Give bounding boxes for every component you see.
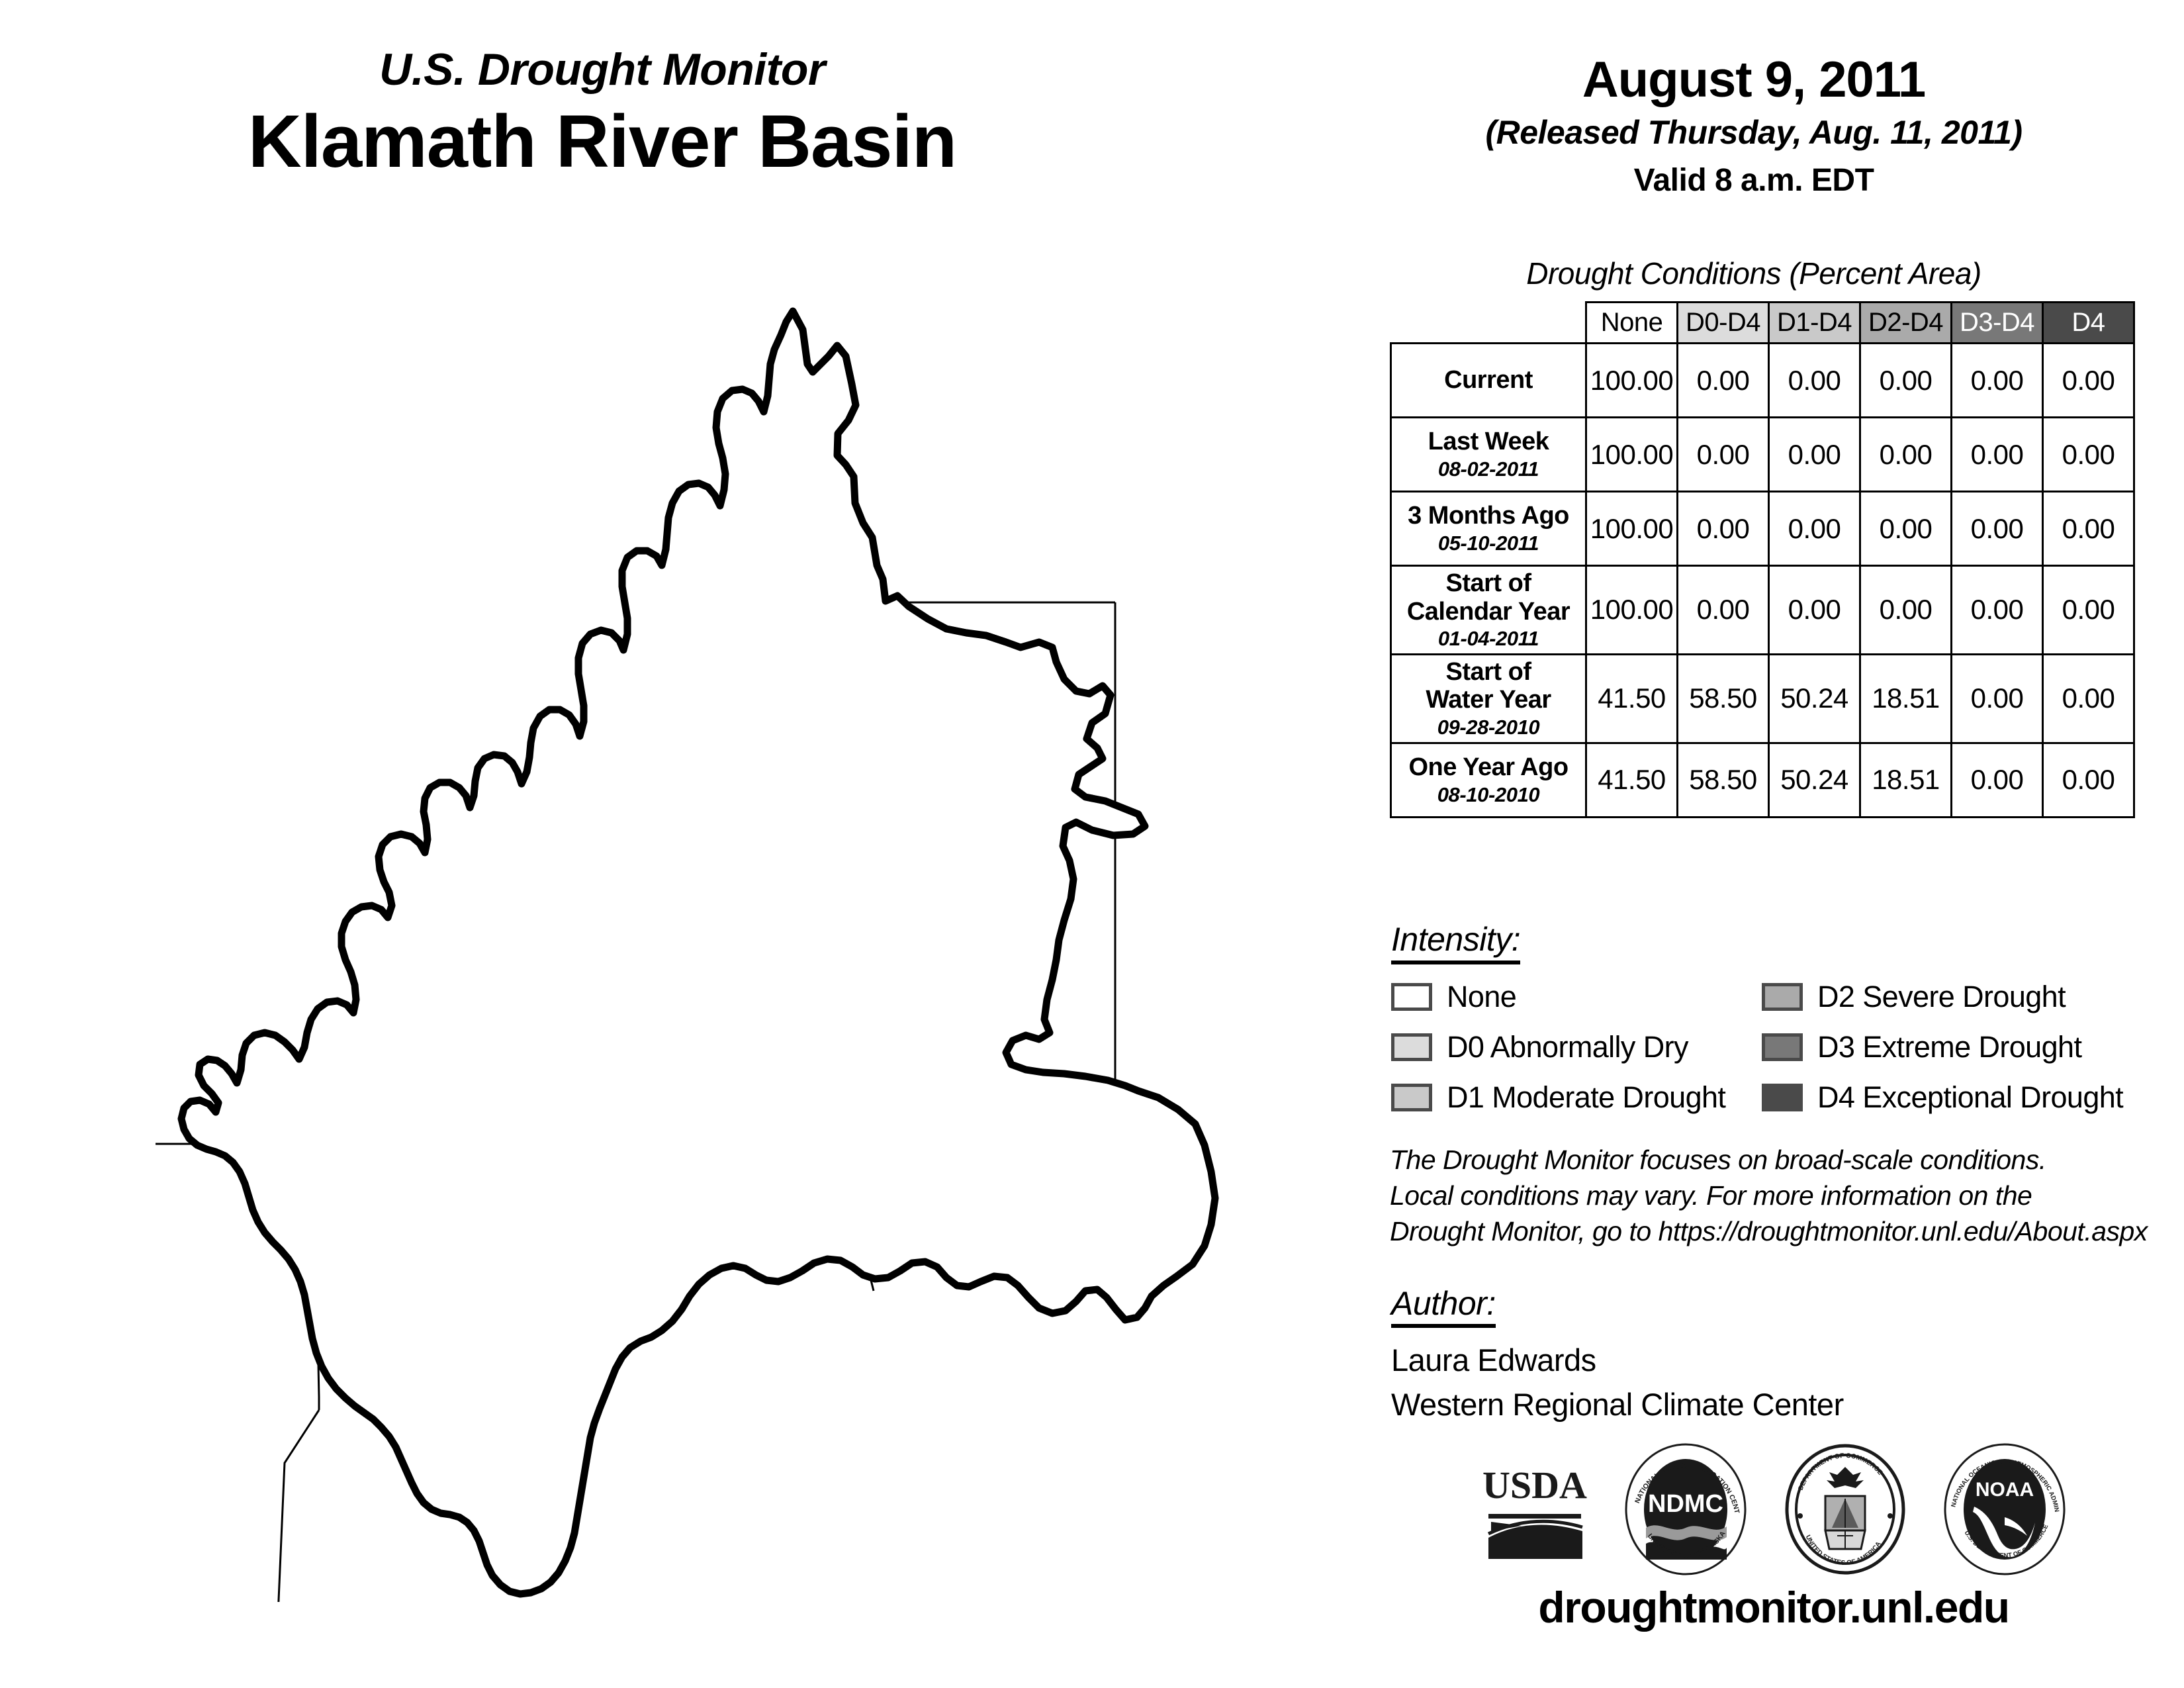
cell-none: 100.00 xyxy=(1586,418,1678,492)
author-info: Laura Edwards Western Regional Climate C… xyxy=(1391,1338,1844,1427)
legend-swatch-icon xyxy=(1762,1084,1803,1111)
title-block: U.S. Drought Monitor Klamath River Basin xyxy=(0,46,1205,183)
cell-d0-d4: 58.50 xyxy=(1678,654,1769,743)
cell-d1-d4: 0.00 xyxy=(1769,418,1860,492)
cell-none: 100.00 xyxy=(1586,492,1678,566)
table-row: Current100.000.000.000.000.000.00 xyxy=(1391,344,2134,418)
table-body: Current100.000.000.000.000.000.00Last We… xyxy=(1391,344,2134,818)
row-label: Last Week08-02-2011 xyxy=(1391,418,1586,492)
column-header-d2-d4: D2-D4 xyxy=(1860,303,1952,344)
cell-none: 41.50 xyxy=(1586,654,1678,743)
doc-logo: DEPARTMENT OF COMMERCE UNITED STATES OF … xyxy=(1784,1443,1907,1579)
release-date: (Released Thursday, Aug. 11, 2011) xyxy=(1363,113,2144,152)
cell-d0-d4: 58.50 xyxy=(1678,743,1769,817)
cell-d3-d4: 0.00 xyxy=(1952,743,2043,817)
cell-d2-d4: 0.00 xyxy=(1860,566,1952,655)
column-header-d0-d4: D0-D4 xyxy=(1678,303,1769,344)
legend-label: None xyxy=(1447,980,1516,1014)
disclaimer-line-3: Drought Monitor, go to https://droughtmo… xyxy=(1390,1213,2164,1249)
svg-text:USDA: USDA xyxy=(1482,1464,1587,1507)
cell-d3-d4: 0.00 xyxy=(1952,654,2043,743)
cell-d1-d4: 50.24 xyxy=(1769,743,1860,817)
cell-d1-d4: 0.00 xyxy=(1769,344,1860,418)
cell-d0-d4: 0.00 xyxy=(1678,344,1769,418)
basin-outline xyxy=(181,311,1215,1594)
cell-none: 100.00 xyxy=(1586,566,1678,655)
svg-text:NDMC: NDMC xyxy=(1648,1490,1723,1518)
cell-d4: 0.00 xyxy=(2043,654,2134,743)
legend-item: D0 Abnormally Dry xyxy=(1391,1030,1762,1064)
cell-d0-d4: 0.00 xyxy=(1678,566,1769,655)
column-header-none: None xyxy=(1586,303,1678,344)
cell-d2-d4: 18.51 xyxy=(1860,654,1952,743)
klamath-river-basin-map[interactable] xyxy=(86,285,1343,1602)
table-row: Last Week08-02-2011100.000.000.000.000.0… xyxy=(1391,418,2134,492)
table-row: One Year Ago08-10-201041.5058.5050.2418.… xyxy=(1391,743,2134,817)
row-date: 01-04-2011 xyxy=(1396,628,1581,651)
legend-item: None xyxy=(1391,980,1762,1014)
map-panel: U.S. Drought Monitor Klamath River Basin xyxy=(0,0,1363,1688)
row-date: 08-02-2011 xyxy=(1396,458,1581,481)
disclaimer-line-2: Local conditions may vary. For more info… xyxy=(1390,1178,2164,1213)
legend-item: D3 Extreme Drought xyxy=(1762,1030,2159,1064)
site-url[interactable]: droughtmonitor.unl.edu xyxy=(1363,1582,2184,1632)
intensity-heading: Intensity: xyxy=(1391,920,1520,964)
legend-item: D1 Moderate Drought xyxy=(1391,1080,1762,1115)
legend-swatch-icon xyxy=(1391,1084,1432,1111)
cell-d0-d4: 0.00 xyxy=(1678,418,1769,492)
agency-logos: USDA NDMC NATIONAL DROUGHT MITIGATION CE… xyxy=(1363,1443,2184,1579)
cell-d2-d4: 0.00 xyxy=(1860,418,1952,492)
table-corner-cell xyxy=(1391,303,1586,344)
author-name: Laura Edwards xyxy=(1391,1338,1844,1383)
ndmc-logo: NDMC NATIONAL DROUGHT MITIGATION CENTER … xyxy=(1625,1443,1747,1579)
legend-swatch-icon xyxy=(1391,983,1432,1011)
table-row: Start ofCalendar Year01-04-2011100.000.0… xyxy=(1391,566,2134,655)
cell-d4: 0.00 xyxy=(2043,344,2134,418)
cell-d4: 0.00 xyxy=(2043,418,2134,492)
row-label: One Year Ago08-10-2010 xyxy=(1391,743,1586,817)
cell-d4: 0.00 xyxy=(2043,743,2134,817)
column-header-d4: D4 xyxy=(2043,303,2134,344)
disclaimer-text: The Drought Monitor focuses on broad-sca… xyxy=(1390,1142,2164,1249)
table-caption: Drought Conditions (Percent Area) xyxy=(1363,256,2144,291)
cell-d3-d4: 0.00 xyxy=(1952,492,2043,566)
cell-d3-d4: 0.00 xyxy=(1952,344,2043,418)
table-row: 3 Months Ago05-10-2011100.000.000.000.00… xyxy=(1391,492,2134,566)
column-header-d3-d4: D3-D4 xyxy=(1952,303,2043,344)
legend-swatch-icon xyxy=(1391,1033,1432,1061)
row-date: 08-10-2010 xyxy=(1396,784,1581,807)
cell-d0-d4: 0.00 xyxy=(1678,492,1769,566)
legend-item: D4 Exceptional Drought xyxy=(1762,1080,2159,1115)
date-block: August 9, 2011 (Released Thursday, Aug. … xyxy=(1363,53,2144,200)
row-label: Start ofWater Year09-28-2010 xyxy=(1391,654,1586,743)
cell-d3-d4: 0.00 xyxy=(1952,418,2043,492)
cell-d2-d4: 0.00 xyxy=(1860,344,1952,418)
legend-label: D4 Exceptional Drought xyxy=(1817,1080,2123,1115)
row-date: 05-10-2011 xyxy=(1396,532,1581,555)
cell-d3-d4: 0.00 xyxy=(1952,566,2043,655)
author-affiliation: Western Regional Climate Center xyxy=(1391,1383,1844,1427)
info-panel: August 9, 2011 (Released Thursday, Aug. … xyxy=(1363,0,2184,1688)
row-label: Start ofCalendar Year01-04-2011 xyxy=(1391,566,1586,655)
table-header: None D0-D4 D1-D4 D2-D4 D3-D4 D4 xyxy=(1391,303,2134,344)
legend-item: D2 Severe Drought xyxy=(1762,980,2159,1014)
intensity-legend: NoneD2 Severe DroughtD0 Abnormally DryD3… xyxy=(1391,972,2159,1123)
row-label: 3 Months Ago05-10-2011 xyxy=(1391,492,1586,566)
cell-d1-d4: 50.24 xyxy=(1769,654,1860,743)
noaa-logo: NOAA NATIONAL OCEANIC AND ATMOSPHERIC AD… xyxy=(1944,1443,2066,1579)
author-heading: Author: xyxy=(1391,1284,1496,1328)
disclaimer-line-1: The Drought Monitor focuses on broad-sca… xyxy=(1390,1142,2164,1178)
valid-time: Valid 8 a.m. EDT xyxy=(1363,162,2144,200)
cell-none: 41.50 xyxy=(1586,743,1678,817)
usda-logo: USDA xyxy=(1482,1453,1588,1569)
cell-none: 100.00 xyxy=(1586,344,1678,418)
legend-label: D2 Severe Drought xyxy=(1817,980,2066,1014)
cell-d1-d4: 0.00 xyxy=(1769,566,1860,655)
cell-d2-d4: 0.00 xyxy=(1860,492,1952,566)
report-date: August 9, 2011 xyxy=(1363,53,2144,107)
cell-d4: 0.00 xyxy=(2043,492,2134,566)
page-title: Klamath River Basin xyxy=(0,100,1205,183)
legend-label: D1 Moderate Drought xyxy=(1447,1080,1725,1115)
legend-label: D3 Extreme Drought xyxy=(1817,1030,2081,1064)
drought-conditions-table: None D0-D4 D1-D4 D2-D4 D3-D4 D4 Current1… xyxy=(1390,301,2135,818)
legend-swatch-icon xyxy=(1762,983,1803,1011)
cell-d2-d4: 18.51 xyxy=(1860,743,1952,817)
table-row: Start ofWater Year09-28-201041.5058.5050… xyxy=(1391,654,2134,743)
legend-swatch-icon xyxy=(1762,1033,1803,1061)
table-header-row: None D0-D4 D1-D4 D2-D4 D3-D4 D4 xyxy=(1391,303,2134,344)
row-date: 09-28-2010 xyxy=(1396,716,1581,739)
legend-label: D0 Abnormally Dry xyxy=(1447,1030,1688,1064)
cell-d1-d4: 0.00 xyxy=(1769,492,1860,566)
program-title: U.S. Drought Monitor xyxy=(0,46,1205,93)
row-label: Current xyxy=(1391,344,1586,418)
column-header-d1-d4: D1-D4 xyxy=(1769,303,1860,344)
svg-text:NOAA: NOAA xyxy=(1975,1479,2033,1501)
cell-d4: 0.00 xyxy=(2043,566,2134,655)
